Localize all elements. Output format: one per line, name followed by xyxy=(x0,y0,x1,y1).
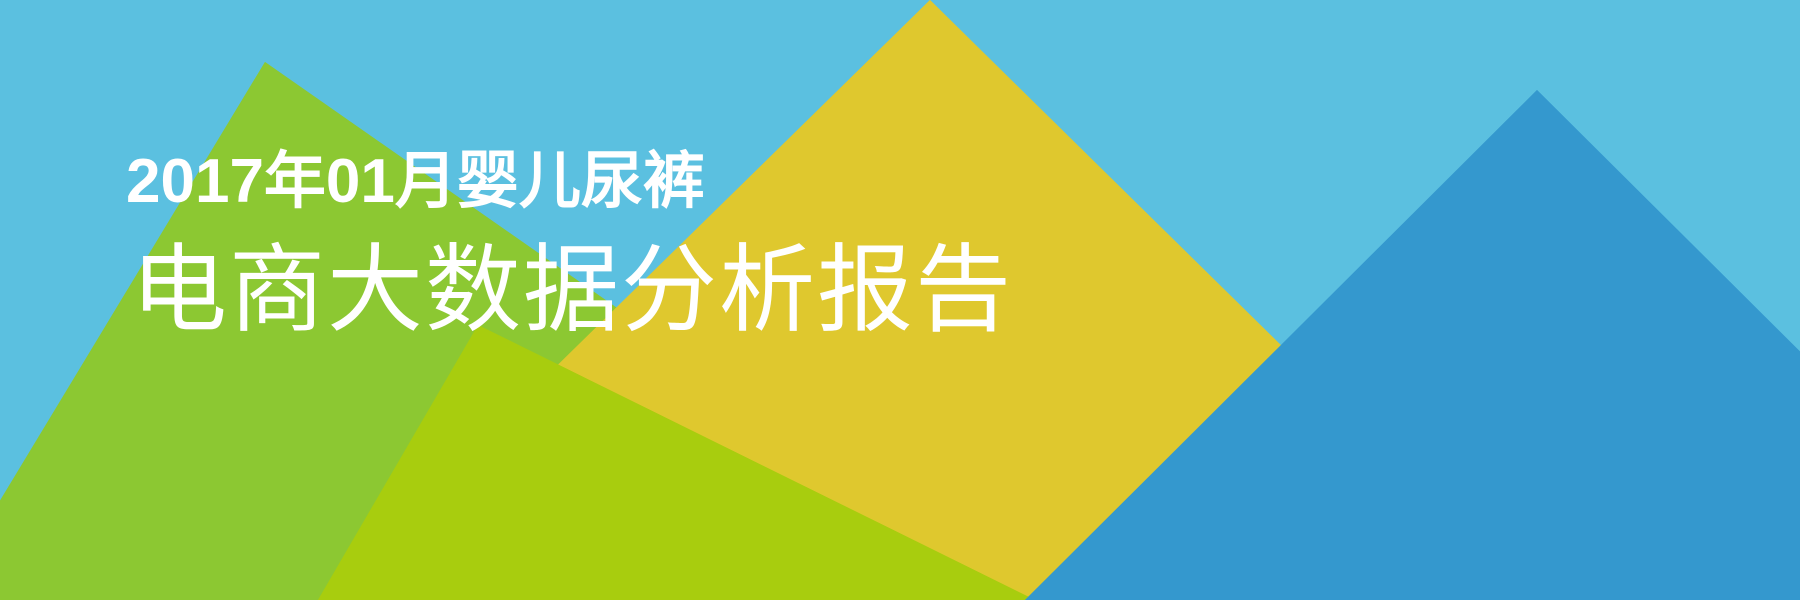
decorative-background xyxy=(0,0,1800,600)
report-cover-banner: 2017年01月婴儿尿裤 电商大数据分析报告 xyxy=(0,0,1800,600)
